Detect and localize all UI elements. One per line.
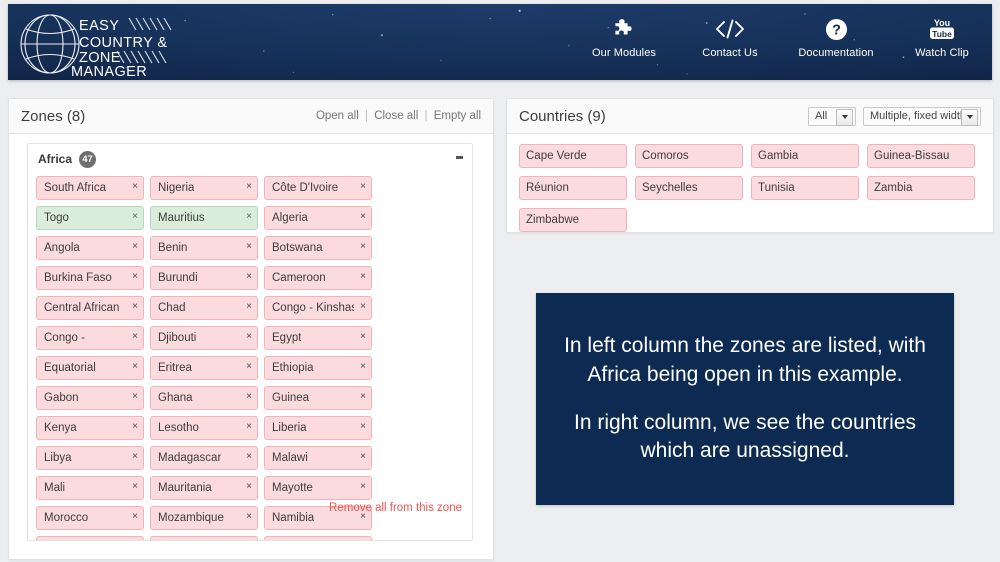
x-icon[interactable]: × (246, 240, 252, 254)
zone-africa-footer: Remove all from this zone (329, 500, 462, 514)
zone-country-tag[interactable]: Eritrea× (150, 356, 258, 380)
zone-country-tag-label: Equatorial (44, 362, 96, 374)
zone-africa-name: Africa (38, 152, 72, 166)
minus-icon[interactable] (456, 156, 463, 159)
x-icon[interactable]: × (132, 360, 138, 374)
zone-country-tag-label: Mali (44, 482, 65, 494)
logo-line-4: MANAGER (71, 64, 147, 78)
youtube-icon: You Tube (925, 14, 959, 44)
globe-logo-icon: EASY COUNTRY & ZONE MANAGER (16, 10, 276, 78)
country-filter-select-value: All (815, 110, 827, 122)
chevron-down-icon (961, 109, 978, 126)
zone-country-tag[interactable]: Malawi× (264, 446, 372, 470)
zone-country-tag[interactable]: Togo× (36, 206, 144, 230)
nav-label-documentation: Documentation (798, 47, 873, 59)
zone-country-tag-label: South Africa (44, 182, 106, 194)
zone-country-tag[interactable]: Côte D'Ivoire× (264, 176, 372, 200)
zone-country-tag[interactable]: Madagascar× (150, 446, 258, 470)
action-separator-1: | (365, 110, 368, 122)
nav-item-our-modules[interactable]: Our Modules (584, 14, 664, 59)
zone-country-tag-label: Mauritania (158, 482, 212, 494)
x-icon[interactable]: × (246, 510, 252, 524)
unassigned-country-tag-grid: Cape VerdeComorosGambiaGuinea-BissauRéun… (507, 134, 993, 242)
x-icon[interactable]: × (132, 510, 138, 524)
unassigned-country-tag-label: Tunisia (758, 182, 795, 194)
unassigned-country-tag[interactable]: Gambia (751, 144, 859, 168)
x-icon[interactable]: × (360, 390, 366, 404)
zone-country-tag[interactable]: Cameroon× (264, 266, 372, 290)
x-icon[interactable]: × (246, 390, 252, 404)
x-icon[interactable]: × (246, 420, 252, 434)
countries-panel-title: Countries (9) (519, 108, 606, 125)
zone-country-tag-label: Eritrea (158, 362, 192, 374)
x-icon[interactable]: × (246, 180, 252, 194)
x-icon[interactable]: × (132, 300, 138, 314)
zone-country-tag-label: Algeria (272, 212, 308, 224)
zone-country-tag-label: Togo (44, 212, 69, 224)
unassigned-country-tag-label: Réunion (526, 182, 569, 194)
zone-country-tag[interactable]: Niger× (36, 536, 144, 541)
x-icon[interactable]: × (360, 540, 366, 541)
unassigned-country-tag-label: Seychelles (642, 182, 698, 194)
zone-country-tag[interactable]: Burkina Faso× (36, 266, 144, 290)
open-all-link[interactable]: Open all (316, 110, 359, 122)
nav-label-watch-clip: Watch Clip (915, 47, 969, 59)
zone-country-tag[interactable]: Kenya× (36, 416, 144, 440)
unassigned-country-tag-label: Guinea-Bissau (874, 150, 949, 162)
zone-country-tag-label: Lesotho (158, 422, 199, 434)
countries-panel: Countries (9) All Multiple, fixed width … (506, 98, 994, 233)
zone-country-tag-label: Central African (44, 302, 119, 314)
zone-country-tag-grid: South Africa×Nigeria×Côte D'Ivoire×Togo×… (28, 174, 472, 541)
zone-country-tag[interactable]: Central African× (36, 296, 144, 320)
zone-country-tag[interactable]: Gabon× (36, 386, 144, 410)
zone-country-tag-label: Gabon (44, 392, 79, 404)
zone-country-tag[interactable]: Chad× (150, 296, 258, 320)
x-icon[interactable]: × (360, 360, 366, 374)
zone-country-tag-label: Burundi (158, 272, 198, 284)
question-mark-circle-icon: ? (825, 14, 848, 44)
x-icon[interactable]: × (132, 240, 138, 254)
zone-country-tag-label: Cameroon (272, 272, 326, 284)
zone-country-tag-label: Malawi (272, 452, 308, 464)
callout-paragraph-2: In right column, we see the countries wh… (574, 411, 916, 462)
x-icon[interactable]: × (132, 480, 138, 494)
zone-country-tag[interactable]: Rwanda× (150, 536, 258, 541)
x-icon[interactable]: × (132, 540, 138, 541)
zone-country-tag[interactable]: Benin× (150, 236, 258, 260)
zone-country-tag-label: Ethiopia (272, 362, 314, 374)
unassigned-country-tag[interactable]: Tunisia (751, 176, 859, 200)
x-icon[interactable]: × (360, 210, 366, 224)
x-icon[interactable]: × (246, 360, 252, 374)
page-root: EASY COUNTRY & ZONE MANAGER (0, 0, 1000, 562)
svg-text:Tube: Tube (932, 29, 952, 39)
unassigned-country-tag-label: Zimbabwe (526, 214, 579, 226)
zone-country-tag-label: Angola (44, 242, 80, 254)
zone-country-tag-label: Benin (158, 242, 187, 254)
x-icon[interactable]: × (132, 390, 138, 404)
x-icon[interactable]: × (132, 210, 138, 224)
explanation-callout: In left column the zones are listed, wit… (536, 293, 954, 505)
zone-country-tag-label: Guinea (272, 392, 309, 404)
x-icon[interactable]: × (360, 420, 366, 434)
zone-country-tag-label: Botswana (272, 242, 323, 254)
zone-country-tag[interactable]: Ethiopia× (264, 356, 372, 380)
main-nav: Our Modules Contact Us ? (584, 14, 982, 72)
zone-country-tag-label: Mauritius (158, 212, 205, 224)
unassigned-country-tag[interactable]: Cape Verde (519, 144, 627, 168)
unassigned-country-tag[interactable]: Réunion (519, 176, 627, 200)
zone-country-tag[interactable]: São Tomé &× (264, 536, 372, 541)
zone-country-tag[interactable]: Burundi× (150, 266, 258, 290)
zones-panel-header: Zones (8) Open all | Close all | Empty a… (9, 99, 493, 134)
x-icon[interactable]: × (360, 240, 366, 254)
x-icon[interactable]: × (360, 180, 366, 194)
zone-country-tag[interactable]: Angola× (36, 236, 144, 260)
unassigned-country-tag-label: Gambia (758, 150, 798, 162)
zone-country-tag[interactable]: Congo - Kinshasa× (264, 296, 372, 320)
zone-country-tag-label: Morocco (44, 512, 88, 524)
zone-country-tag-label: Ghana (158, 392, 193, 404)
zone-country-tag[interactable]: Mauritius× (150, 206, 258, 230)
zone-country-tag-label: Kenya (44, 422, 77, 434)
zone-country-tag[interactable]: Djibouti× (150, 326, 258, 350)
zone-country-tag[interactable]: Congo -× (36, 326, 144, 350)
zone-africa-header[interactable]: Africa 47 (28, 144, 472, 174)
x-icon[interactable]: × (360, 480, 366, 494)
country-layout-select[interactable]: Multiple, fixed width (863, 107, 981, 126)
country-layout-select-value: Multiple, fixed width (870, 110, 966, 122)
site-logo[interactable]: EASY COUNTRY & ZONE MANAGER (16, 10, 276, 78)
unassigned-country-tag[interactable]: Guinea-Bissau (867, 144, 975, 168)
empty-all-link[interactable]: Empty all (434, 110, 481, 122)
unassigned-country-tag[interactable]: Zambia (867, 176, 975, 200)
action-separator-2: | (425, 110, 428, 122)
nav-label-contact-us: Contact Us (702, 47, 757, 59)
zone-country-tag[interactable]: Equatorial× (36, 356, 144, 380)
chevron-down-icon (836, 109, 853, 126)
zone-country-tag[interactable]: Mali× (36, 476, 144, 500)
x-icon[interactable]: × (132, 450, 138, 464)
x-icon[interactable]: × (246, 210, 252, 224)
zone-country-tag[interactable]: Nigeria× (150, 176, 258, 200)
zone-country-tag-label: Côte D'Ivoire (272, 182, 338, 194)
x-icon[interactable]: × (132, 180, 138, 194)
unassigned-country-tag[interactable]: Seychelles (635, 176, 743, 200)
zone-country-tag-label: Congo - (44, 332, 85, 344)
zone-country-tag-label: Madagascar (158, 452, 221, 464)
zones-panel-actions: Open all | Close all | Empty all (316, 110, 481, 122)
unassigned-country-tag-label: Cape Verde (526, 150, 587, 162)
zone-country-tag-label: Mayotte (272, 482, 313, 494)
zone-country-tag-label: Chad (158, 302, 186, 314)
svg-text:You: You (934, 18, 950, 28)
zone-country-tag[interactable]: Liberia× (264, 416, 372, 440)
x-icon[interactable]: × (360, 330, 366, 344)
x-icon[interactable]: × (246, 270, 252, 284)
x-icon[interactable]: × (360, 450, 366, 464)
zone-country-tag[interactable]: Ghana× (150, 386, 258, 410)
x-icon[interactable]: × (360, 270, 366, 284)
zone-country-tag-label: Liberia (272, 422, 307, 434)
zone-country-tag-label: Mozambique (158, 512, 224, 524)
x-icon[interactable]: × (246, 450, 252, 464)
remove-all-from-zone-link[interactable]: Remove all from this zone (329, 502, 462, 514)
zone-country-tag[interactable]: Mayotte× (264, 476, 372, 500)
x-icon[interactable]: × (246, 540, 252, 541)
nav-item-watch-clip[interactable]: You Tube Watch Clip (902, 14, 982, 59)
unassigned-country-tag-label: Zambia (874, 182, 912, 194)
logo-line-2: COUNTRY & (79, 35, 167, 51)
zone-country-tag[interactable]: Algeria× (264, 206, 372, 230)
zones-panel: Zones (8) Open all | Close all | Empty a… (8, 98, 494, 560)
puzzle-piece-icon (612, 14, 636, 44)
x-icon[interactable]: × (132, 420, 138, 434)
zone-country-tag-label: Libya (44, 452, 72, 464)
nav-item-documentation[interactable]: ? Documentation (796, 14, 876, 59)
x-icon[interactable]: × (246, 300, 252, 314)
zone-country-tag[interactable]: South Africa× (36, 176, 144, 200)
callout-spacer (558, 389, 932, 409)
zone-country-tag[interactable]: Egypt× (264, 326, 372, 350)
zone-country-tag[interactable]: Guinea× (264, 386, 372, 410)
zone-africa-count-badge: 47 (79, 151, 96, 168)
zone-country-tag[interactable]: Botswana× (264, 236, 372, 260)
zone-country-tag[interactable]: Mauritania× (150, 476, 258, 500)
nav-label-our-modules: Our Modules (592, 47, 656, 59)
zone-country-tag[interactable]: Mozambique× (150, 506, 258, 530)
zone-country-tag-label: Burkina Faso (44, 272, 112, 284)
zones-panel-title: Zones (8) (21, 108, 85, 125)
close-all-link[interactable]: Close all (374, 110, 418, 122)
unassigned-country-tag[interactable]: Zimbabwe (519, 208, 627, 232)
x-icon[interactable]: × (132, 330, 138, 344)
x-icon[interactable]: × (360, 300, 366, 314)
zone-country-tag[interactable]: Lesotho× (150, 416, 258, 440)
x-icon[interactable]: × (246, 480, 252, 494)
code-brackets-icon (715, 14, 745, 44)
logo-line-1: EASY (79, 18, 119, 34)
zone-africa: Africa 47 South Africa×Nigeria×Côte D'Iv… (27, 143, 473, 541)
nav-item-contact-us[interactable]: Contact Us (690, 14, 770, 59)
zone-country-tag-label: Egypt (272, 332, 301, 344)
zone-country-tag-label: Nigeria (158, 182, 194, 194)
site-header-banner: EASY COUNTRY & ZONE MANAGER (8, 4, 992, 80)
callout-paragraph-1: In left column the zones are listed, wit… (564, 334, 926, 385)
countries-panel-controls: All Multiple, fixed width (808, 107, 981, 126)
country-filter-select[interactable]: All (808, 107, 856, 126)
x-icon[interactable]: × (132, 270, 138, 284)
zone-country-tag[interactable]: Libya× (36, 446, 144, 470)
x-icon[interactable]: × (246, 330, 252, 344)
zone-country-tag-label: Djibouti (158, 332, 196, 344)
countries-panel-header: Countries (9) All Multiple, fixed width (507, 99, 993, 134)
unassigned-country-tag-label: Comoros (642, 150, 689, 162)
zone-country-tag-label: Congo - Kinshasa (272, 302, 354, 314)
zone-country-tag-label: Namibia (272, 512, 314, 524)
svg-text:?: ? (832, 22, 841, 38)
unassigned-country-tag[interactable]: Comoros (635, 144, 743, 168)
zone-country-tag[interactable]: Morocco× (36, 506, 144, 530)
